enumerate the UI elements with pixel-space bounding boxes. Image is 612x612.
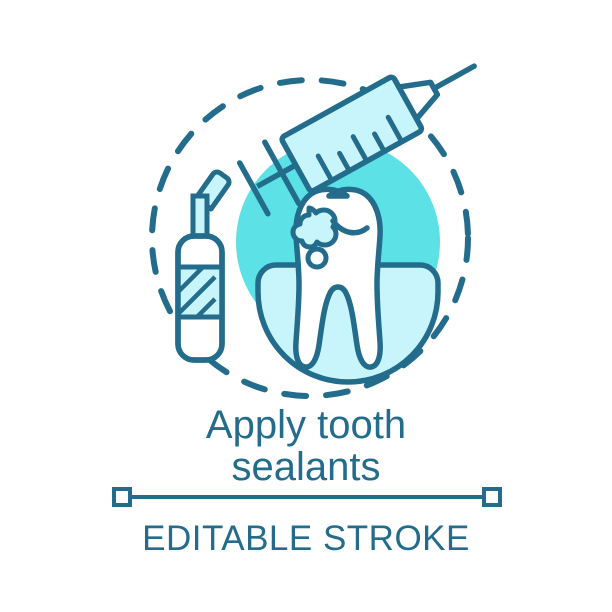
right-handle[interactable] (484, 489, 500, 505)
left-handle[interactable] (114, 489, 130, 505)
cavity-dot (308, 249, 326, 267)
icon-canvas: Apply tooth sealants EDITABLE STROKE (0, 0, 612, 612)
illustration-artboard: Apply tooth sealants EDITABLE STROKE (0, 0, 612, 612)
editable-stroke-label: EDITABLE STROKE (142, 519, 470, 558)
scaler-neck (193, 196, 207, 238)
caption-line-1: Apply tooth (206, 403, 406, 447)
caption-line-2: sealants (232, 445, 381, 489)
